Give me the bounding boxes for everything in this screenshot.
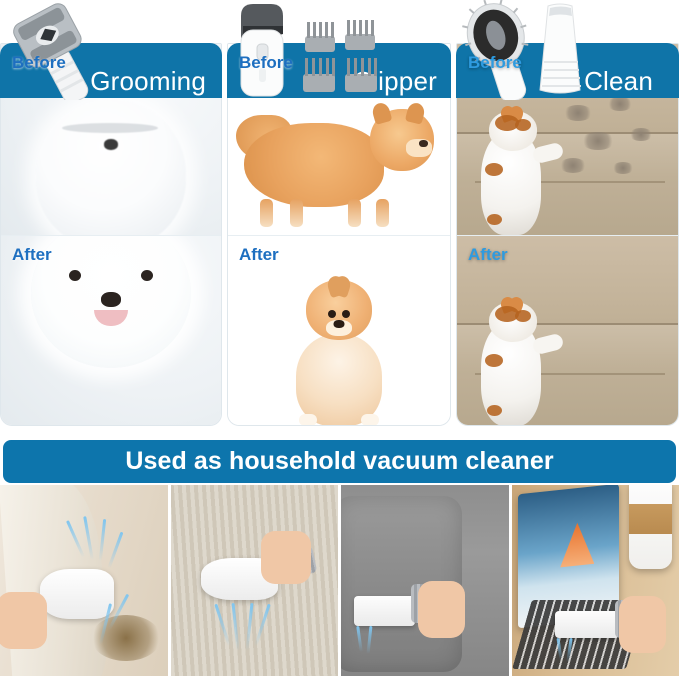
pet-hair-clump [612,162,634,174]
crevice-nozzle [555,611,619,638]
dog-head [306,280,372,340]
after-photo-grooming [1,236,221,427]
after-half: After [1,235,221,427]
cat-paw-reaching [532,141,565,164]
cat-illustration [477,111,557,235]
panel-title: Grooming [90,68,206,94]
panel-card: Before After [0,43,222,426]
usage-shot-rug [171,485,339,676]
panel-title: Clipper [353,68,437,94]
dog-leg [376,199,389,227]
before-label: Before [239,54,293,71]
usage-photo-strip [0,485,679,676]
hand [0,592,47,649]
cat-paw-reaching [532,333,565,356]
dog-paw [299,414,317,426]
after-photo-clean [457,236,678,427]
before-label: Before [468,54,522,71]
shaggy-dog-illustration [36,99,186,235]
long-coat-pomeranian-illustration [244,109,434,227]
dog-leg [290,199,303,227]
household-vacuum-banner: Used as household vacuum cleaner [3,440,676,483]
panel-title: Clean [584,68,653,94]
vacuum-brush-head [40,569,114,619]
pet-hair-clump [581,132,615,150]
dog-nose [334,320,345,328]
panel-card: Before [227,43,451,426]
usage-shot-sofa [341,485,509,676]
cat-fur-patch [515,119,531,131]
groomed-dog-illustration [31,236,191,368]
dog-ear [371,101,393,125]
banner-text: Used as household vacuum cleaner [125,447,553,476]
crevice-nozzle [354,596,414,627]
dog-mouth [94,310,128,326]
airflow-line [107,531,123,568]
panel-grooming: Before After Grooming [0,0,222,432]
after-half: After [457,235,678,427]
dog-eye-right [328,310,336,318]
dog-eye-right [141,270,153,281]
after-label: After [468,246,508,263]
dog-ear [405,101,426,125]
after-label: After [239,246,279,263]
dog-leg [348,199,361,227]
panel-clean: Before [456,0,679,432]
pet-hair-clump [629,128,653,141]
airflow-line [98,519,105,561]
cat-fur-patch [487,214,502,225]
hand [418,581,465,638]
usage-shot-clothes [0,485,168,676]
cat-head [489,302,537,342]
cat-illustration [477,302,557,426]
panel-clipper: Before [227,0,451,432]
dog-nose [101,292,121,307]
hand [619,596,666,653]
dog-body [244,123,384,207]
dog-paw [361,414,379,426]
hand [261,531,311,584]
usage-shot-laptop [512,485,679,676]
after-half: After [228,235,450,427]
pet-hair-clump [559,158,587,173]
coffee-cup [629,485,673,569]
feature-panels: Before After Grooming [0,0,679,432]
before-label: Before [12,54,66,71]
pet-hair-clump [563,105,593,121]
trimmed-pomeranian-illustration [279,276,399,426]
cat-fur-patch [487,405,502,416]
cat-fur-patch [485,354,503,367]
wallpaper-mountain [560,521,594,567]
dog-nose [419,140,428,147]
dog-body [296,334,382,426]
cat-fur-patch [485,163,503,176]
panel-card: Before [456,43,679,426]
after-photo-clipper [228,236,450,427]
cat-fur-patch [515,310,531,322]
after-label: After [12,246,52,263]
cat-head [489,111,537,151]
dog-eye-left [69,270,81,281]
dog-leg [260,199,273,227]
dog-eye-left [342,310,350,318]
